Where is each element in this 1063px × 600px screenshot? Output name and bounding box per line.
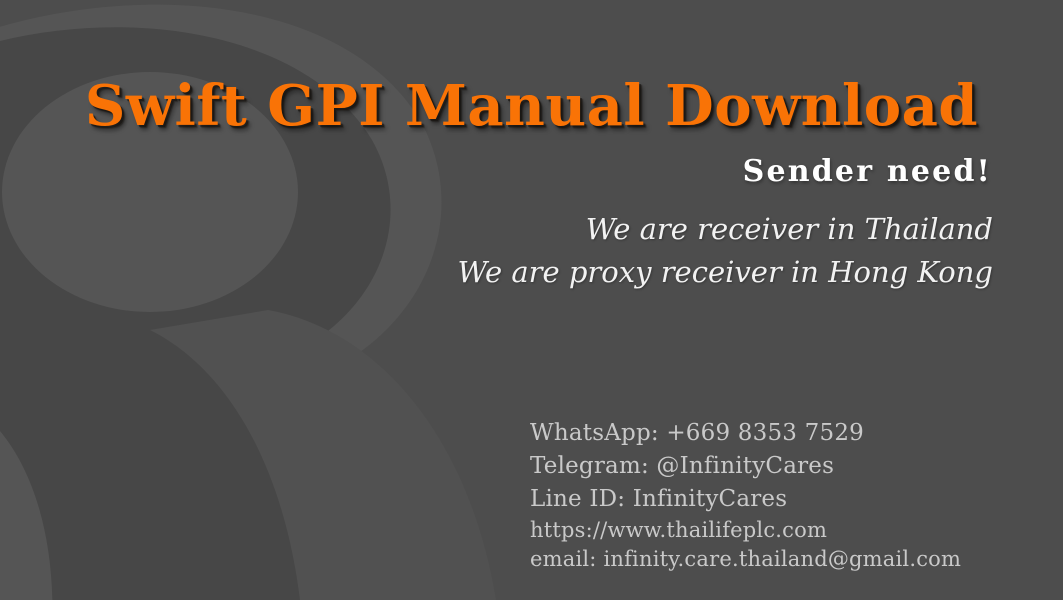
script-statement-block: We are receiver in Thailand We are proxy… bbox=[458, 208, 994, 294]
subheadline-text: Sender need! bbox=[743, 156, 992, 188]
contact-line-id[interactable]: Line ID: InfinityCares bbox=[530, 483, 961, 515]
contact-block: WhatsApp: +669 8353 7529 Telegram: @Infi… bbox=[530, 417, 961, 574]
subheadline-container: Sender need! bbox=[743, 156, 992, 188]
watermark-leg-highlight bbox=[150, 310, 496, 600]
contact-website-link[interactable]: https://www.thailifeplc.com bbox=[530, 516, 961, 545]
contact-whatsapp[interactable]: WhatsApp: +669 8353 7529 bbox=[530, 417, 961, 449]
contact-email[interactable]: email: infinity.care.thailand@gmail.com bbox=[530, 545, 961, 574]
headline-container: Swift GPI Manual Download bbox=[0, 78, 1063, 134]
contact-telegram[interactable]: Telegram: @InfinityCares bbox=[530, 450, 961, 482]
poster-canvas: Swift GPI Manual Download Sender need! W… bbox=[0, 0, 1063, 600]
script-line-proxy-hongkong: We are proxy receiver in Hong Kong bbox=[458, 251, 994, 294]
page-title: Swift GPI Manual Download bbox=[85, 78, 978, 134]
script-line-receiver-thailand: We are receiver in Thailand bbox=[458, 208, 994, 251]
